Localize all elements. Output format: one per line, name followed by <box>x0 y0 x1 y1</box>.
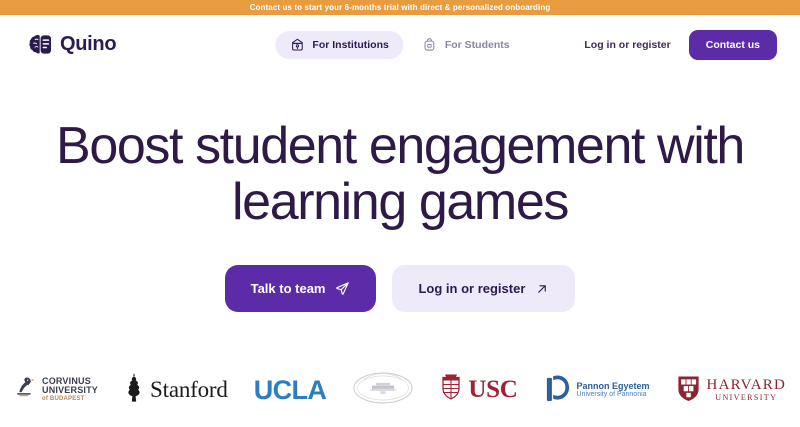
pannon-line-1: Pannon Egyetem <box>577 381 650 391</box>
login-or-register-label: Log in or register <box>418 281 525 296</box>
brand-logo[interactable]: Quino <box>28 32 116 57</box>
usc-wordmark: USC <box>468 376 517 404</box>
raven-crest-icon <box>14 373 36 408</box>
announcement-banner[interactable]: Contact us to start your 6-months trial … <box>0 0 800 15</box>
logo-harvard-university: HARVARD UNIVERSITY <box>676 370 786 410</box>
logo-corvinus-university: CORVINUS UNIVERSITY of BUDAPEST <box>14 370 98 410</box>
logo-harvard-text: HARVARD UNIVERSITY <box>707 377 786 404</box>
page-title-line-1: Boost student engagement with <box>0 118 800 174</box>
corvinus-line-2: UNIVERSITY <box>42 386 98 396</box>
logo-pannon-text: Pannon Egyetem University of Pannonia <box>577 381 650 400</box>
harvard-line-1: HARVARD <box>707 377 786 394</box>
paper-plane-icon <box>335 281 350 296</box>
pannon-line-2: University of Pannonia <box>577 391 650 399</box>
nav-pill-label: For Institutions <box>312 39 388 51</box>
hero-section: Boost student engagement with learning g… <box>0 74 800 312</box>
stanford-wordmark: Stanford <box>150 377 228 403</box>
partner-logo-strip: CORVINUS UNIVERSITY of BUDAPEST Stanford… <box>0 370 800 410</box>
hero-cta-row: Talk to team Log in or register <box>0 265 800 312</box>
site-header: Quino For Institutions <box>0 15 800 74</box>
page-title-line-2: learning games <box>0 174 800 230</box>
logo-ucla: UCLA <box>254 370 327 410</box>
institution-icon <box>290 38 304 52</box>
header-actions: Log in or register Contact us <box>584 30 777 60</box>
logo-usc: USC <box>440 370 517 410</box>
audience-nav: For Institutions For Students <box>275 31 524 59</box>
logo-stanford-university: Stanford <box>124 370 228 410</box>
nav-pill-label: For Students <box>445 39 510 51</box>
stanford-tree-icon <box>124 371 144 410</box>
harvard-shield-icon <box>676 373 701 408</box>
login-or-register-button[interactable]: Log in or register <box>392 265 575 312</box>
landing-page: Contact us to start your 6-months trial … <box>0 0 800 427</box>
usc-shield-icon <box>440 372 462 409</box>
brain-logo-icon <box>28 32 53 57</box>
arrow-up-right-icon <box>535 282 549 296</box>
harvard-line-2: UNIVERSITY <box>707 393 786 403</box>
brand-name: Quino <box>60 33 116 56</box>
corvinus-line-3: of BUDAPEST <box>42 396 98 403</box>
pannon-p-icon <box>544 373 571 408</box>
talk-to-team-button[interactable]: Talk to team <box>225 265 377 312</box>
logo-corvinus-text: CORVINUS UNIVERSITY of BUDAPEST <box>42 377 98 404</box>
logo-university-seal <box>352 370 414 410</box>
login-or-register-link[interactable]: Log in or register <box>584 39 670 51</box>
talk-to-team-label: Talk to team <box>251 281 326 296</box>
backpack-icon <box>423 38 437 52</box>
logo-pannon-egyetem: Pannon Egyetem University of Pannonia <box>544 370 650 410</box>
nav-pill-for-students[interactable]: For Students <box>408 31 525 59</box>
ucla-wordmark: UCLA <box>254 375 327 406</box>
nav-pill-for-institutions[interactable]: For Institutions <box>275 31 403 59</box>
oval-seal-icon <box>352 371 414 410</box>
contact-us-button[interactable]: Contact us <box>689 30 777 60</box>
announcement-banner-text: Contact us to start your 6-months trial … <box>250 3 551 12</box>
page-title: Boost student engagement with learning g… <box>0 118 800 230</box>
